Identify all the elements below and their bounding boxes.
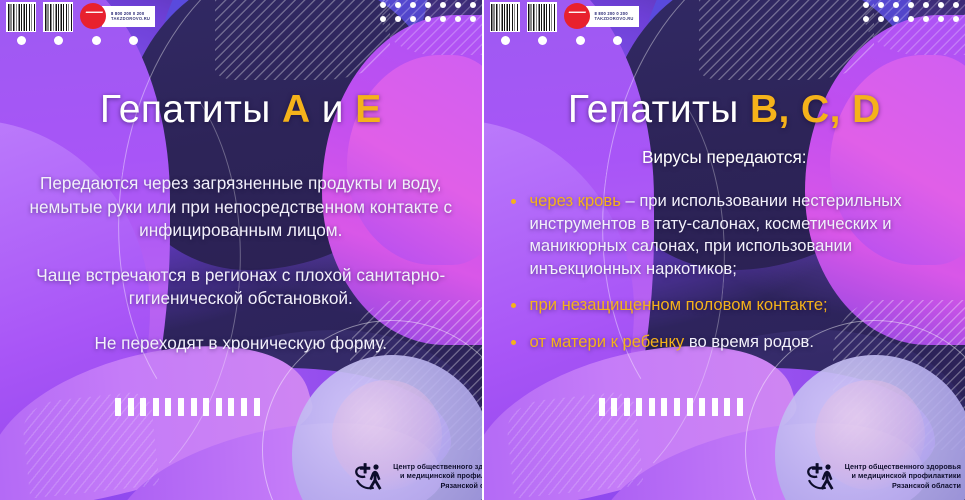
logo-line-1: Центр общественного здоровья <box>393 462 481 472</box>
tick-bars-decoration <box>599 398 744 416</box>
bullet-highlight: при незащищенном половом контакте; <box>530 295 828 314</box>
bullet-rest: во время родов. <box>684 332 814 351</box>
title-letter-b: B, <box>750 88 790 131</box>
medical-cross-person-icon <box>804 460 838 492</box>
title-letter-a: А <box>282 88 311 131</box>
logo-line-3: Рязанской области <box>892 481 961 491</box>
slide-separator <box>482 0 483 500</box>
logo-line-3: Рязанской области <box>440 481 481 491</box>
page-title-left: Гепатиты А и Е <box>0 88 482 132</box>
slide-hepatitis-a-e: 8 800 200 0 200 TAKZDOROVO.RU Гепатиты А… <box>0 0 482 500</box>
list-item: от матери к ребенку во время родов. <box>508 331 952 354</box>
title-letter-c: C, <box>801 88 841 131</box>
poster-pair: 8 800 200 0 200 TAKZDOROVO.RU Гепатиты А… <box>0 0 965 500</box>
tick-bars-decoration <box>115 398 260 416</box>
medical-cross-person-icon <box>352 460 386 492</box>
title-conjunction: и <box>311 88 356 131</box>
subtitle-transmission: Вирусы передаются: <box>498 146 952 169</box>
page-title-right: Гепатиты B, C, D <box>484 88 965 132</box>
paragraph-transmission: Передаются через загрязненные продукты и… <box>14 172 468 243</box>
organization-logo: Центр общественного здоровья и медицинск… <box>804 460 961 492</box>
logo-line-1: Центр общественного здоровья <box>845 462 961 472</box>
slide-hepatitis-b-c-d: 8 800 200 0 200 TAKZDOROVO.RU Гепатиты B… <box>484 0 965 500</box>
title-letter-e: Е <box>355 88 381 131</box>
list-item: через кровь – при использовании нестерил… <box>508 190 952 280</box>
title-prefix: Гепатиты <box>100 88 282 131</box>
bullet-highlight: через кровь <box>530 191 621 210</box>
list-item: при незащищенном половом контакте; <box>508 294 952 317</box>
logo-line-2: и медицинской профилактики <box>852 471 961 481</box>
logo-line-2: и медицинской профилактики <box>400 471 481 481</box>
organization-logo: Центр общественного здоровья и медицинск… <box>352 460 481 492</box>
paragraph-chronic: Не переходят в хроническую форму. <box>14 332 468 356</box>
transmission-list: через кровь – при использовании нестерил… <box>508 190 952 354</box>
title-letter-d: D <box>852 88 881 131</box>
slide-content-left: Гепатиты А и Е Передаются через загрязне… <box>0 0 482 500</box>
title-prefix: Гепатиты <box>568 88 750 131</box>
body-text-left: Передаются через загрязненные продукты и… <box>14 172 468 355</box>
organization-name: Центр общественного здоровья и медицинск… <box>845 462 961 491</box>
bullet-highlight: от матери к ребенку <box>530 332 685 351</box>
slide-content-right: Гепатиты B, C, D Вирусы передаются: чере… <box>484 0 965 500</box>
organization-name: Центр общественного здоровья и медицинск… <box>393 462 481 491</box>
paragraph-regions: Чаще встречаются в регионах с плохой сан… <box>14 264 468 311</box>
